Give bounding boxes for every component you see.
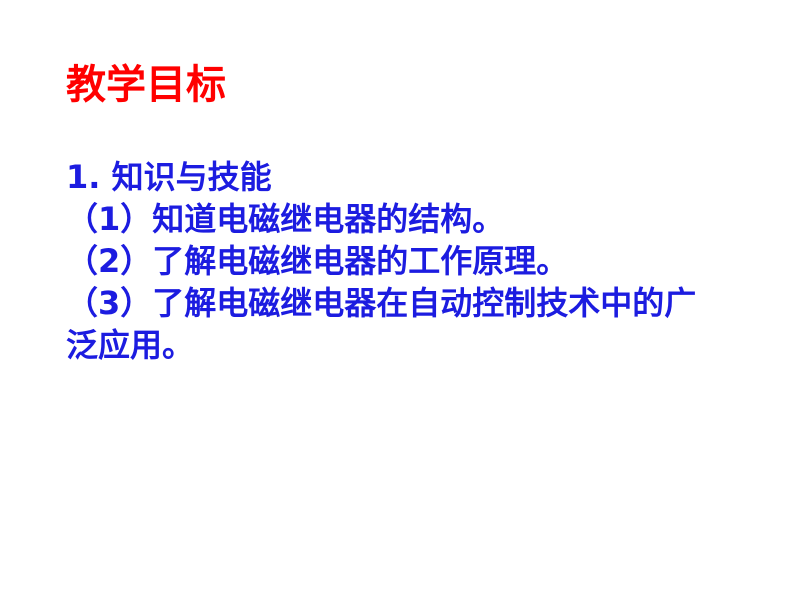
objectives-list: 1. 知识与技能 （1）知道电磁继电器的结构。 （2）了解电磁继电器的工作原理。… — [66, 156, 726, 366]
list-item-3: （3）了解电磁继电器在自动控制技术中的广泛应用。 — [66, 282, 724, 366]
page-title: 教学目标 — [66, 60, 226, 110]
list-item-heading: 1. 知识与技能 — [66, 156, 726, 198]
slide-canvas: 教学目标 1. 知识与技能 （1）知道电磁继电器的结构。 （2）了解电磁继电器的… — [0, 0, 800, 600]
list-item-2: （2）了解电磁继电器的工作原理。 — [66, 240, 726, 282]
list-item-1: （1）知道电磁继电器的结构。 — [66, 198, 726, 240]
